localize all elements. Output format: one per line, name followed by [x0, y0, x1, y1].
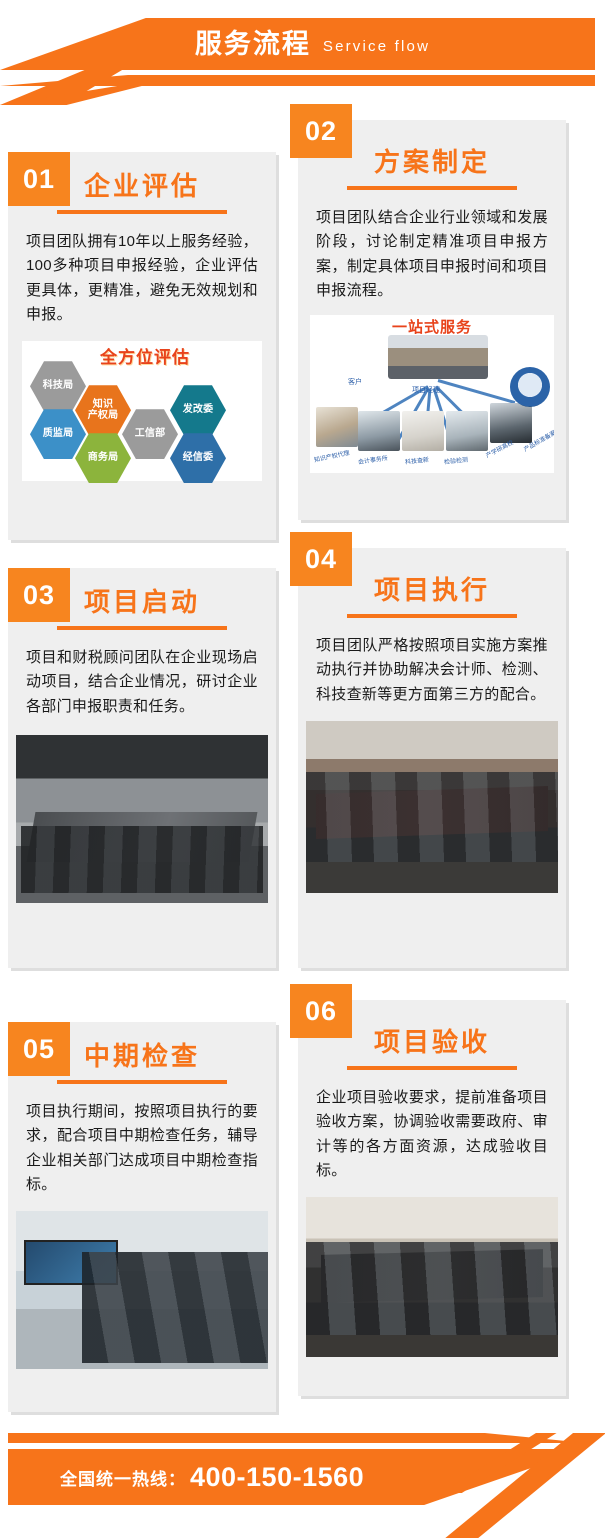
step-body-02: 项目团队结合企业行业领域和发展阶段，讨论制定精准项目申报方案，制定具体项目申报时… — [298, 190, 566, 313]
one-stop-label-3: 科技查新 — [405, 455, 430, 466]
step-number-badge-01: 01 — [8, 152, 70, 206]
step-body-05: 项目执行期间，按照项目执行的要求，配合项目中期检查任务，辅导企业相关部门达成项目… — [8, 1084, 276, 1207]
hex-node-fagai: 发改委 — [170, 385, 226, 435]
one-stop-label-1: 知识产权代理 — [313, 448, 350, 464]
step-photo-05 — [16, 1211, 268, 1369]
page-subtitle: Service flow — [323, 39, 430, 54]
page-header: 服务流程 Service flow — [0, 0, 605, 105]
step-card-06[interactable]: 06 项目验收 企业项目验收要求，提前准备项目验收方案，协调验收需要政府、审计等… — [298, 1000, 566, 1396]
header-title-group: 服务流程 Service flow — [0, 18, 595, 70]
hex-diagram: 全方位评估 科技局 知识 产权局 质监局 商务局 工信部 发改委 经信委 — [22, 341, 262, 481]
one-stop-client-label: 客户 — [348, 377, 362, 387]
one-stop-node-photo-1 — [316, 407, 358, 447]
footer-stripe — [8, 1433, 586, 1443]
one-stop-certification-seal-icon — [510, 367, 550, 407]
one-stop-hero-photo — [388, 335, 488, 379]
one-stop-label-2: 会计事务所 — [357, 453, 388, 466]
page-title: 服务流程 — [195, 31, 311, 58]
step-card-05[interactable]: 05 中期检查 项目执行期间，按照项目执行的要求，配合项目中期检查任务，辅导企业… — [8, 1022, 276, 1412]
one-stop-node-photo-2 — [358, 411, 400, 451]
step-body-06: 企业项目验收要求，提前准备项目验收方案，协调验收需要政府、审计等的各方面资源，达… — [298, 1070, 566, 1193]
step-photo-03 — [16, 735, 268, 903]
one-stop-node-photo-4 — [446, 411, 488, 451]
footer-hotline-group: 全国统一热线： 400-150-1560 — [8, 1449, 438, 1505]
one-stop-node-photo-5 — [490, 403, 532, 443]
step-number-badge-02: 02 — [290, 104, 352, 158]
page-footer: 全国统一热线： 400-150-1560 — [0, 1433, 605, 1538]
hex-node-shangwu: 商务局 — [75, 433, 131, 483]
step-photo-06 — [306, 1197, 558, 1357]
step-card-01[interactable]: 01 企业评估 项目团队拥有10年以上服务经验，100多种项目申报经验，企业评估… — [8, 152, 276, 540]
step-number-badge-06: 06 — [290, 984, 352, 1038]
one-stop-diagram: 一站式服务 客户 项目经理 知识产权代理 会计事务所 科技查新 检验检测 产学研… — [310, 315, 554, 473]
infographic-page: 服务流程 Service flow 01 企业评估 项目团队拥有10年以上服务经… — [0, 0, 605, 1538]
one-stop-node-photo-3 — [402, 411, 444, 451]
hotline-number[interactable]: 400-150-1560 — [190, 1462, 364, 1493]
step-card-03[interactable]: 03 项目启动 项目和财税顾问团队在企业现场启动项目，结合企业情况，研讨企业各部… — [8, 568, 276, 968]
hex-node-gongxin: 工信部 — [122, 409, 178, 459]
one-stop-center-label: 项目经理 — [412, 385, 440, 395]
hex-diagram-title: 全方位评估 — [100, 343, 190, 368]
hex-node-jingxin: 经信委 — [170, 433, 226, 483]
hex-node-zhijian: 质监局 — [30, 409, 86, 459]
one-stop-title: 一站式服务 — [392, 316, 472, 337]
one-stop-label-4: 检验检测 — [444, 455, 469, 466]
step-card-04[interactable]: 04 项目执行 项目团队严格按照项目实施方案推动执行并协助解决会计师、检测、科技… — [298, 548, 566, 968]
step-number-badge-05: 05 — [8, 1022, 70, 1076]
step-photo-04 — [306, 721, 558, 893]
step-number-badge-03: 03 — [8, 568, 70, 622]
step-body-01: 项目团队拥有10年以上服务经验，100多种项目申报经验，企业评估更具体，更精准，… — [8, 214, 276, 337]
hotline-label: 全国统一热线： — [60, 1465, 186, 1490]
step-number-badge-04: 04 — [290, 532, 352, 586]
step-body-03: 项目和财税顾问团队在企业现场启动项目，结合企业情况，研讨企业各部门申报职责和任务… — [8, 630, 276, 729]
hex-node-keji: 科技局 — [30, 361, 86, 411]
step-body-04: 项目团队严格按照项目实施方案推动执行并协助解决会计师、检测、科技查新等更方面第三… — [298, 618, 566, 717]
step-card-02[interactable]: 02 方案制定 项目团队结合企业行业领域和发展阶段，讨论制定精准项目申报方案，制… — [298, 120, 566, 520]
hex-node-zscq: 知识 产权局 — [75, 385, 131, 435]
